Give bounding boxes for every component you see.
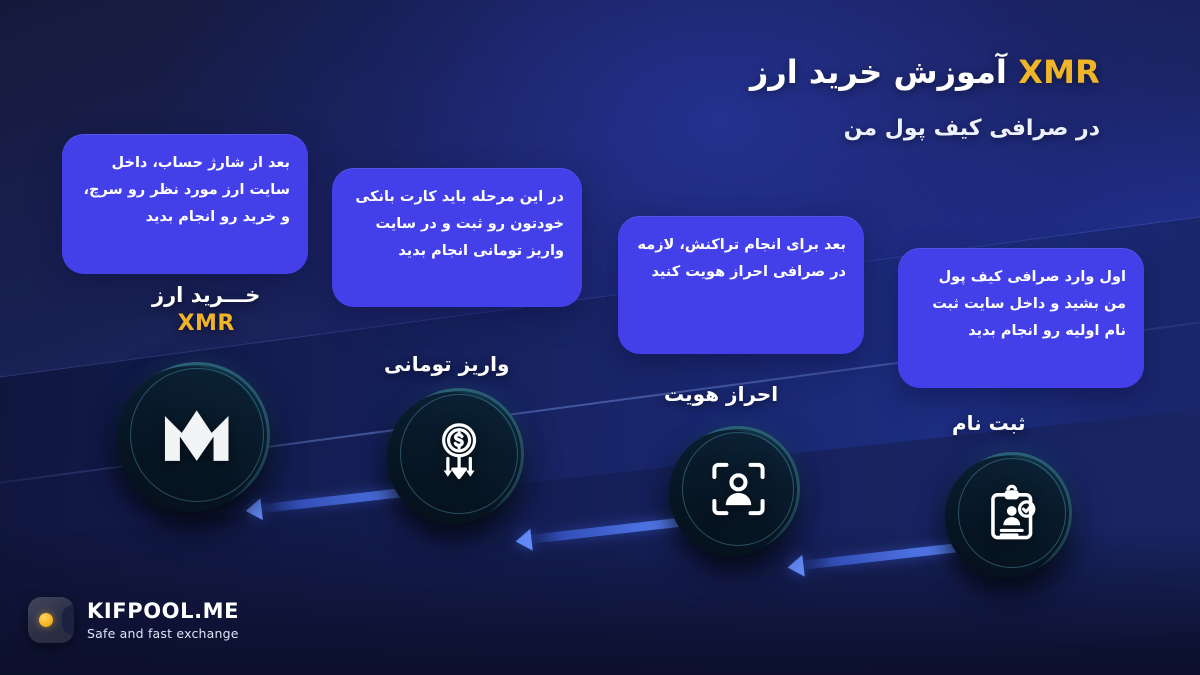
- step-label-buy-xmr: خـــرید ارز XMR: [152, 283, 260, 337]
- logo-name: KIFPOOL.ME: [87, 600, 239, 623]
- step-label-accent-xmr: XMR: [152, 311, 260, 337]
- callout-text: اول وارد صرافی کیف پول من بشید و داخل سا…: [932, 269, 1126, 339]
- step-label-text: خـــرید ارز: [152, 283, 260, 307]
- callout-card-toman-deposit: در این مرحله باید کارت بانکی خودتون رو ث…: [332, 168, 582, 307]
- coin-toman-deposit: [394, 388, 524, 520]
- page-title: XMR آموزش خرید ارز: [750, 52, 1100, 92]
- id-card-check-icon: [980, 480, 1045, 546]
- step-label-toman-deposit: واریز تومانی: [384, 353, 509, 377]
- coin-identity: [676, 426, 800, 552]
- coin-buy-xmr: [124, 362, 270, 508]
- step-label-signup: ثبت نام: [952, 412, 1026, 436]
- logo-notch: [62, 605, 74, 635]
- callout-card-buy-xmr: بعد از شارژ حساب، داخل سایت ارز مورد نظر…: [62, 134, 308, 274]
- step-label-identity: احراز هویت: [664, 383, 778, 407]
- callout-text: بعد برای انجام تراکنش، لازمه در صرافی اح…: [637, 237, 846, 280]
- callout-card-identity: بعد برای انجام تراکنش، لازمه در صرافی اح…: [618, 216, 864, 354]
- coin-signup: [952, 452, 1072, 574]
- brand-logo[interactable]: KIFPOOL.ME Safe and fast exchange: [28, 597, 239, 643]
- header-block: XMR آموزش خرید ارز در صرافی کیف پول من: [750, 52, 1100, 141]
- face-scan-person-icon: [705, 455, 772, 523]
- logo-coin-dot: [39, 613, 53, 627]
- flow-arrow-identity-to-deposit: [528, 517, 688, 544]
- page-subtitle: در صرافی کیف پول من: [750, 116, 1100, 141]
- logo-tagline: Safe and fast exchange: [87, 627, 239, 641]
- logo-text-block: KIFPOOL.ME Safe and fast exchange: [87, 600, 239, 641]
- callout-text: بعد از شارژ حساب، داخل سایت ارز مورد نظر…: [84, 155, 290, 225]
- dollar-down-arrow-icon: [424, 418, 494, 489]
- infographic-canvas: XMR آموزش خرید ارز در صرافی کیف پول من ب…: [0, 0, 1200, 675]
- callout-card-signup: اول وارد صرافی کیف پول من بشید و داخل سا…: [898, 248, 1144, 388]
- page-title-main: آموزش خرید ارز: [750, 53, 1007, 91]
- callout-text: در این مرحله باید کارت بانکی خودتون رو ث…: [355, 189, 564, 259]
- kifpool-wallet-icon: [28, 597, 74, 643]
- page-title-accent: XMR: [1018, 53, 1100, 91]
- flow-arrow-signup-to-identity: [800, 543, 960, 570]
- monero-m-icon: [150, 388, 243, 481]
